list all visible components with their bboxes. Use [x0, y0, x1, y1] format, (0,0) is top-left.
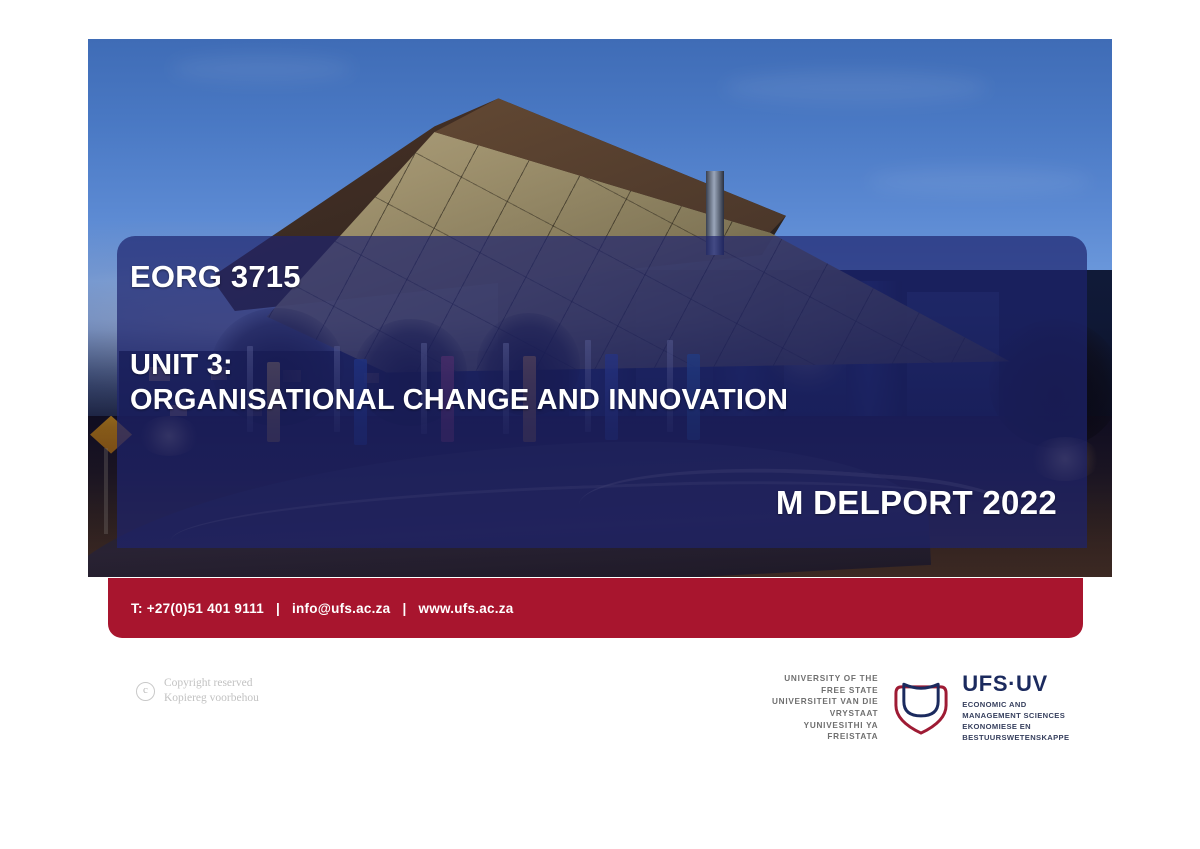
university-name-line: UNIVERSITEIT VAN DIE: [772, 696, 878, 708]
copyright-english: Copyright reserved: [164, 676, 259, 691]
author-credit: M DELPORT 2022: [776, 484, 1057, 522]
ufs-shield-icon: [887, 675, 955, 741]
university-name-line: FREISTATA: [772, 731, 878, 743]
university-name-line: FREE STATE: [772, 685, 878, 697]
ufs-wordmark: UFS·UV: [962, 673, 1069, 695]
contact-details[interactable]: T: +27(0)51 401 9111 | info@ufs.ac.za | …: [131, 601, 514, 616]
university-name-line: VRYSTAAT: [772, 708, 878, 720]
copyright-icon: c: [136, 682, 155, 701]
contact-bar: T: +27(0)51 401 9111 | info@ufs.ac.za | …: [108, 578, 1083, 638]
university-name-line: UNIVERSITY OF THE: [772, 673, 878, 685]
copyright-afrikaans: Kopiereg voorbehou: [164, 691, 259, 706]
slide-canvas: EORG 3715 UNIT 3: ORGANISATIONAL CHANGE …: [0, 0, 1200, 849]
ufs-logo-lockup: UNIVERSITY OF THE FREE STATE UNIVERSITEI…: [772, 672, 1069, 744]
faculty-name-line: EKONOMIESE EN: [962, 721, 1069, 732]
faculty-name-line: ECONOMIC AND: [962, 699, 1069, 710]
faculty-name: ECONOMIC AND MANAGEMENT SCIENCES EKONOMI…: [962, 699, 1069, 743]
faculty-name-line: MANAGEMENT SCIENCES: [962, 710, 1069, 721]
copyright-notice: c Copyright reserved Kopiereg voorbehou: [136, 676, 259, 706]
copyright-text: Copyright reserved Kopiereg voorbehou: [164, 676, 259, 706]
university-name-line: YUNIVESITHI YA: [772, 720, 878, 732]
title-overlay-panel: EORG 3715 UNIT 3: ORGANISATIONAL CHANGE …: [117, 236, 1087, 548]
ufs-text-block: UFS·UV ECONOMIC AND MANAGEMENT SCIENCES …: [955, 673, 1069, 743]
faculty-name-line: BESTUURSWETENSKAPPE: [962, 732, 1069, 743]
university-names: UNIVERSITY OF THE FREE STATE UNIVERSITEI…: [772, 673, 887, 743]
course-code: EORG 3715: [130, 258, 1057, 296]
unit-label: UNIT 3:: [130, 348, 1057, 383]
unit-title: ORGANISATIONAL CHANGE AND INNOVATION: [130, 383, 1057, 418]
